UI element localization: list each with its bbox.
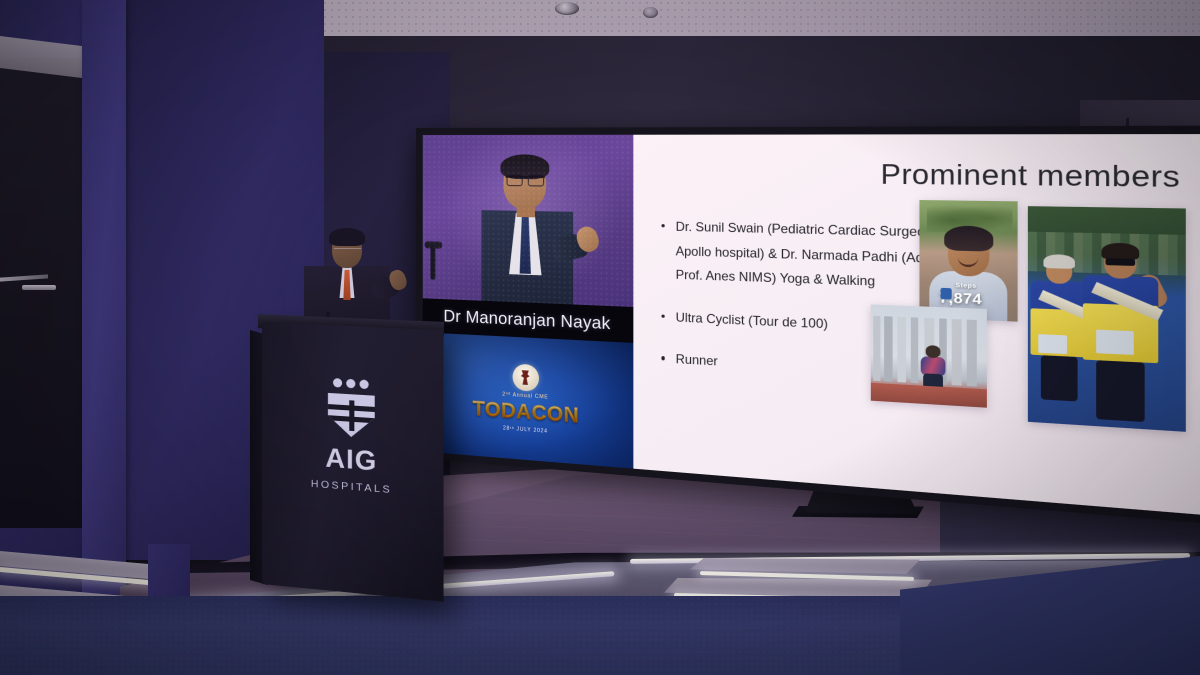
photo-cyclist xyxy=(919,345,946,392)
speaker-shirt xyxy=(504,213,547,276)
photo-runner xyxy=(1080,247,1161,428)
screen-content: Dr Manoranjan Nayak 2ⁿᵈ Annual CME TODAC… xyxy=(423,134,1200,516)
steps-selfie-photo: Steps 7,874 xyxy=(919,200,1017,322)
presenter xyxy=(296,228,404,328)
photo-person-hair xyxy=(944,225,993,251)
runners-race-photo xyxy=(1028,206,1186,432)
speaker-face xyxy=(503,157,546,209)
slide-bullet-item: Dr. Sunil Swain (Pediatric Cardiac Surge… xyxy=(659,216,950,299)
runner-bib xyxy=(1038,334,1067,354)
runner-bib xyxy=(1096,330,1134,355)
screen-left-panel: Dr Manoranjan Nayak 2ⁿᵈ Annual CME TODAC… xyxy=(423,135,634,469)
photo-content xyxy=(1028,206,1186,432)
event-emblem-icon xyxy=(512,363,538,391)
speaker-camera-image xyxy=(465,157,587,306)
shield-icon xyxy=(328,393,375,439)
door-handle-icon[interactable] xyxy=(22,285,56,290)
logo-dots-icon xyxy=(333,378,369,389)
steps-badge-icon xyxy=(940,288,951,300)
event-branding-panel: 2ⁿᵈ Annual CME TODACON 28ᵗʰ JULY 2024 xyxy=(423,332,634,468)
live-camera-feed xyxy=(423,135,634,307)
microphone-stand xyxy=(430,245,435,279)
photo-content: Steps 7,874 xyxy=(919,200,1017,322)
runner-legs xyxy=(1041,355,1078,401)
event-title-text: TODACON xyxy=(473,398,580,429)
slide-title: Prominent members xyxy=(881,159,1181,195)
speaker-hand xyxy=(573,224,601,254)
ceiling-spotlight-icon xyxy=(555,2,579,15)
glasses-icon xyxy=(505,176,545,187)
speaker-suit xyxy=(481,210,573,307)
glasses-lens-right xyxy=(527,175,543,187)
side-door[interactable] xyxy=(0,58,84,528)
speaker-hair xyxy=(500,154,549,179)
presentation-slide: Prominent members Dr. Sunil Swain (Pedia… xyxy=(633,134,1200,516)
runner-legs xyxy=(1096,360,1144,422)
aig-hospitals-logo: AIG HOSPITALS xyxy=(311,377,392,496)
photo-content xyxy=(871,304,987,407)
speaker-arm xyxy=(549,231,589,263)
sunglasses-icon xyxy=(1105,258,1135,266)
ceiling-sprinkler-icon xyxy=(643,7,658,18)
glasses-icon xyxy=(334,242,361,249)
speaker-tie xyxy=(519,216,531,274)
podium: AIG HOSPITALS xyxy=(262,322,444,602)
speaker-neck xyxy=(516,203,534,218)
microphone-head xyxy=(425,241,442,249)
event-date-text: 28ᵗʰ JULY 2024 xyxy=(503,425,548,434)
brand-subtitle-text: HOSPITALS xyxy=(311,478,392,496)
projection-screen[interactable]: Dr Manoranjan Nayak 2ⁿᵈ Annual CME TODAC… xyxy=(416,126,1200,526)
door-push-bar xyxy=(0,274,48,281)
speaker-name-text: Dr Manoranjan Nayak xyxy=(443,307,610,334)
brand-name-text: AIG xyxy=(325,444,377,475)
glasses-lens-left xyxy=(506,175,522,186)
runner-hair xyxy=(1043,254,1074,269)
cyclist-helmet-icon xyxy=(926,345,941,358)
cyclist-skyline-photo xyxy=(871,304,987,407)
auditorium-scene: Dr Manoranjan Nayak 2ⁿᵈ Annual CME TODAC… xyxy=(0,0,1200,675)
